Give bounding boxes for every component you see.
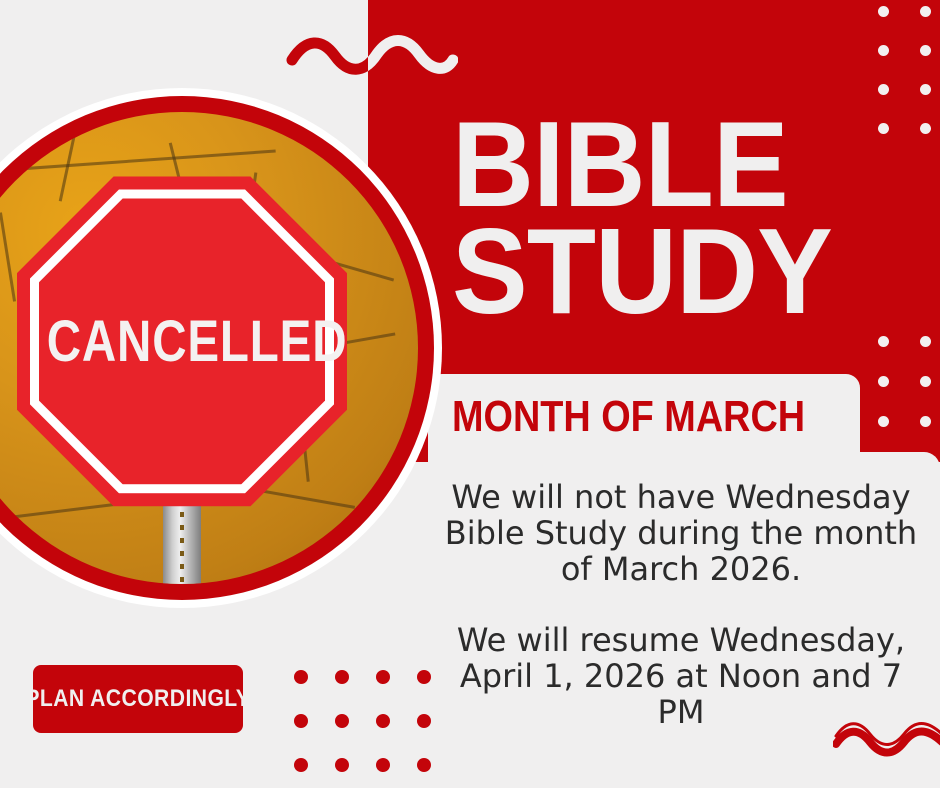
dot: [878, 84, 889, 95]
dot: [920, 45, 931, 56]
dot: [920, 6, 931, 17]
dot: [376, 670, 390, 684]
squiggle-top-icon: [286, 30, 458, 86]
plan-accordingly-badge: PLAN ACCORDINGLY: [33, 665, 243, 733]
dot: [920, 84, 931, 95]
dot: [335, 758, 349, 772]
stop-sign-label: CANCELLED: [47, 308, 318, 375]
dot: [294, 714, 308, 728]
dot: [294, 670, 308, 684]
dot: [335, 670, 349, 684]
stop-sign-photo: CANCELLED: [0, 88, 442, 608]
page-title: BIBLE STUDY: [452, 108, 932, 329]
poster-canvas: CANCELLED BIBLE STUDY MONTH OF MARCH We …: [0, 0, 940, 788]
dot: [920, 416, 931, 427]
dot: [417, 758, 431, 772]
dot: [920, 336, 931, 347]
dot: [878, 416, 889, 427]
dot-grid-bottom-left: [294, 670, 458, 788]
dot: [878, 45, 889, 56]
dot: [878, 336, 889, 347]
stop-sign-octagon: CANCELLED: [17, 176, 347, 506]
body-text: We will not have Wednesday Bible Study d…: [436, 480, 926, 731]
dot: [376, 758, 390, 772]
dot: [417, 714, 431, 728]
dot-grid-middle-right: [878, 336, 940, 456]
dot: [376, 714, 390, 728]
dot: [294, 758, 308, 772]
dot: [335, 714, 349, 728]
dot: [920, 376, 931, 387]
dot: [878, 6, 889, 17]
dot: [878, 376, 889, 387]
plan-accordingly-label: PLAN ACCORDINGLY: [26, 685, 251, 713]
body-paragraph-2: We will resume Wednesday, April 1, 2026 …: [436, 623, 926, 730]
dot: [417, 670, 431, 684]
subtitle: MONTH OF MARCH: [452, 392, 796, 442]
headline-line-2: STUDY: [452, 215, 898, 328]
body-paragraph-1: We will not have Wednesday Bible Study d…: [436, 480, 926, 587]
